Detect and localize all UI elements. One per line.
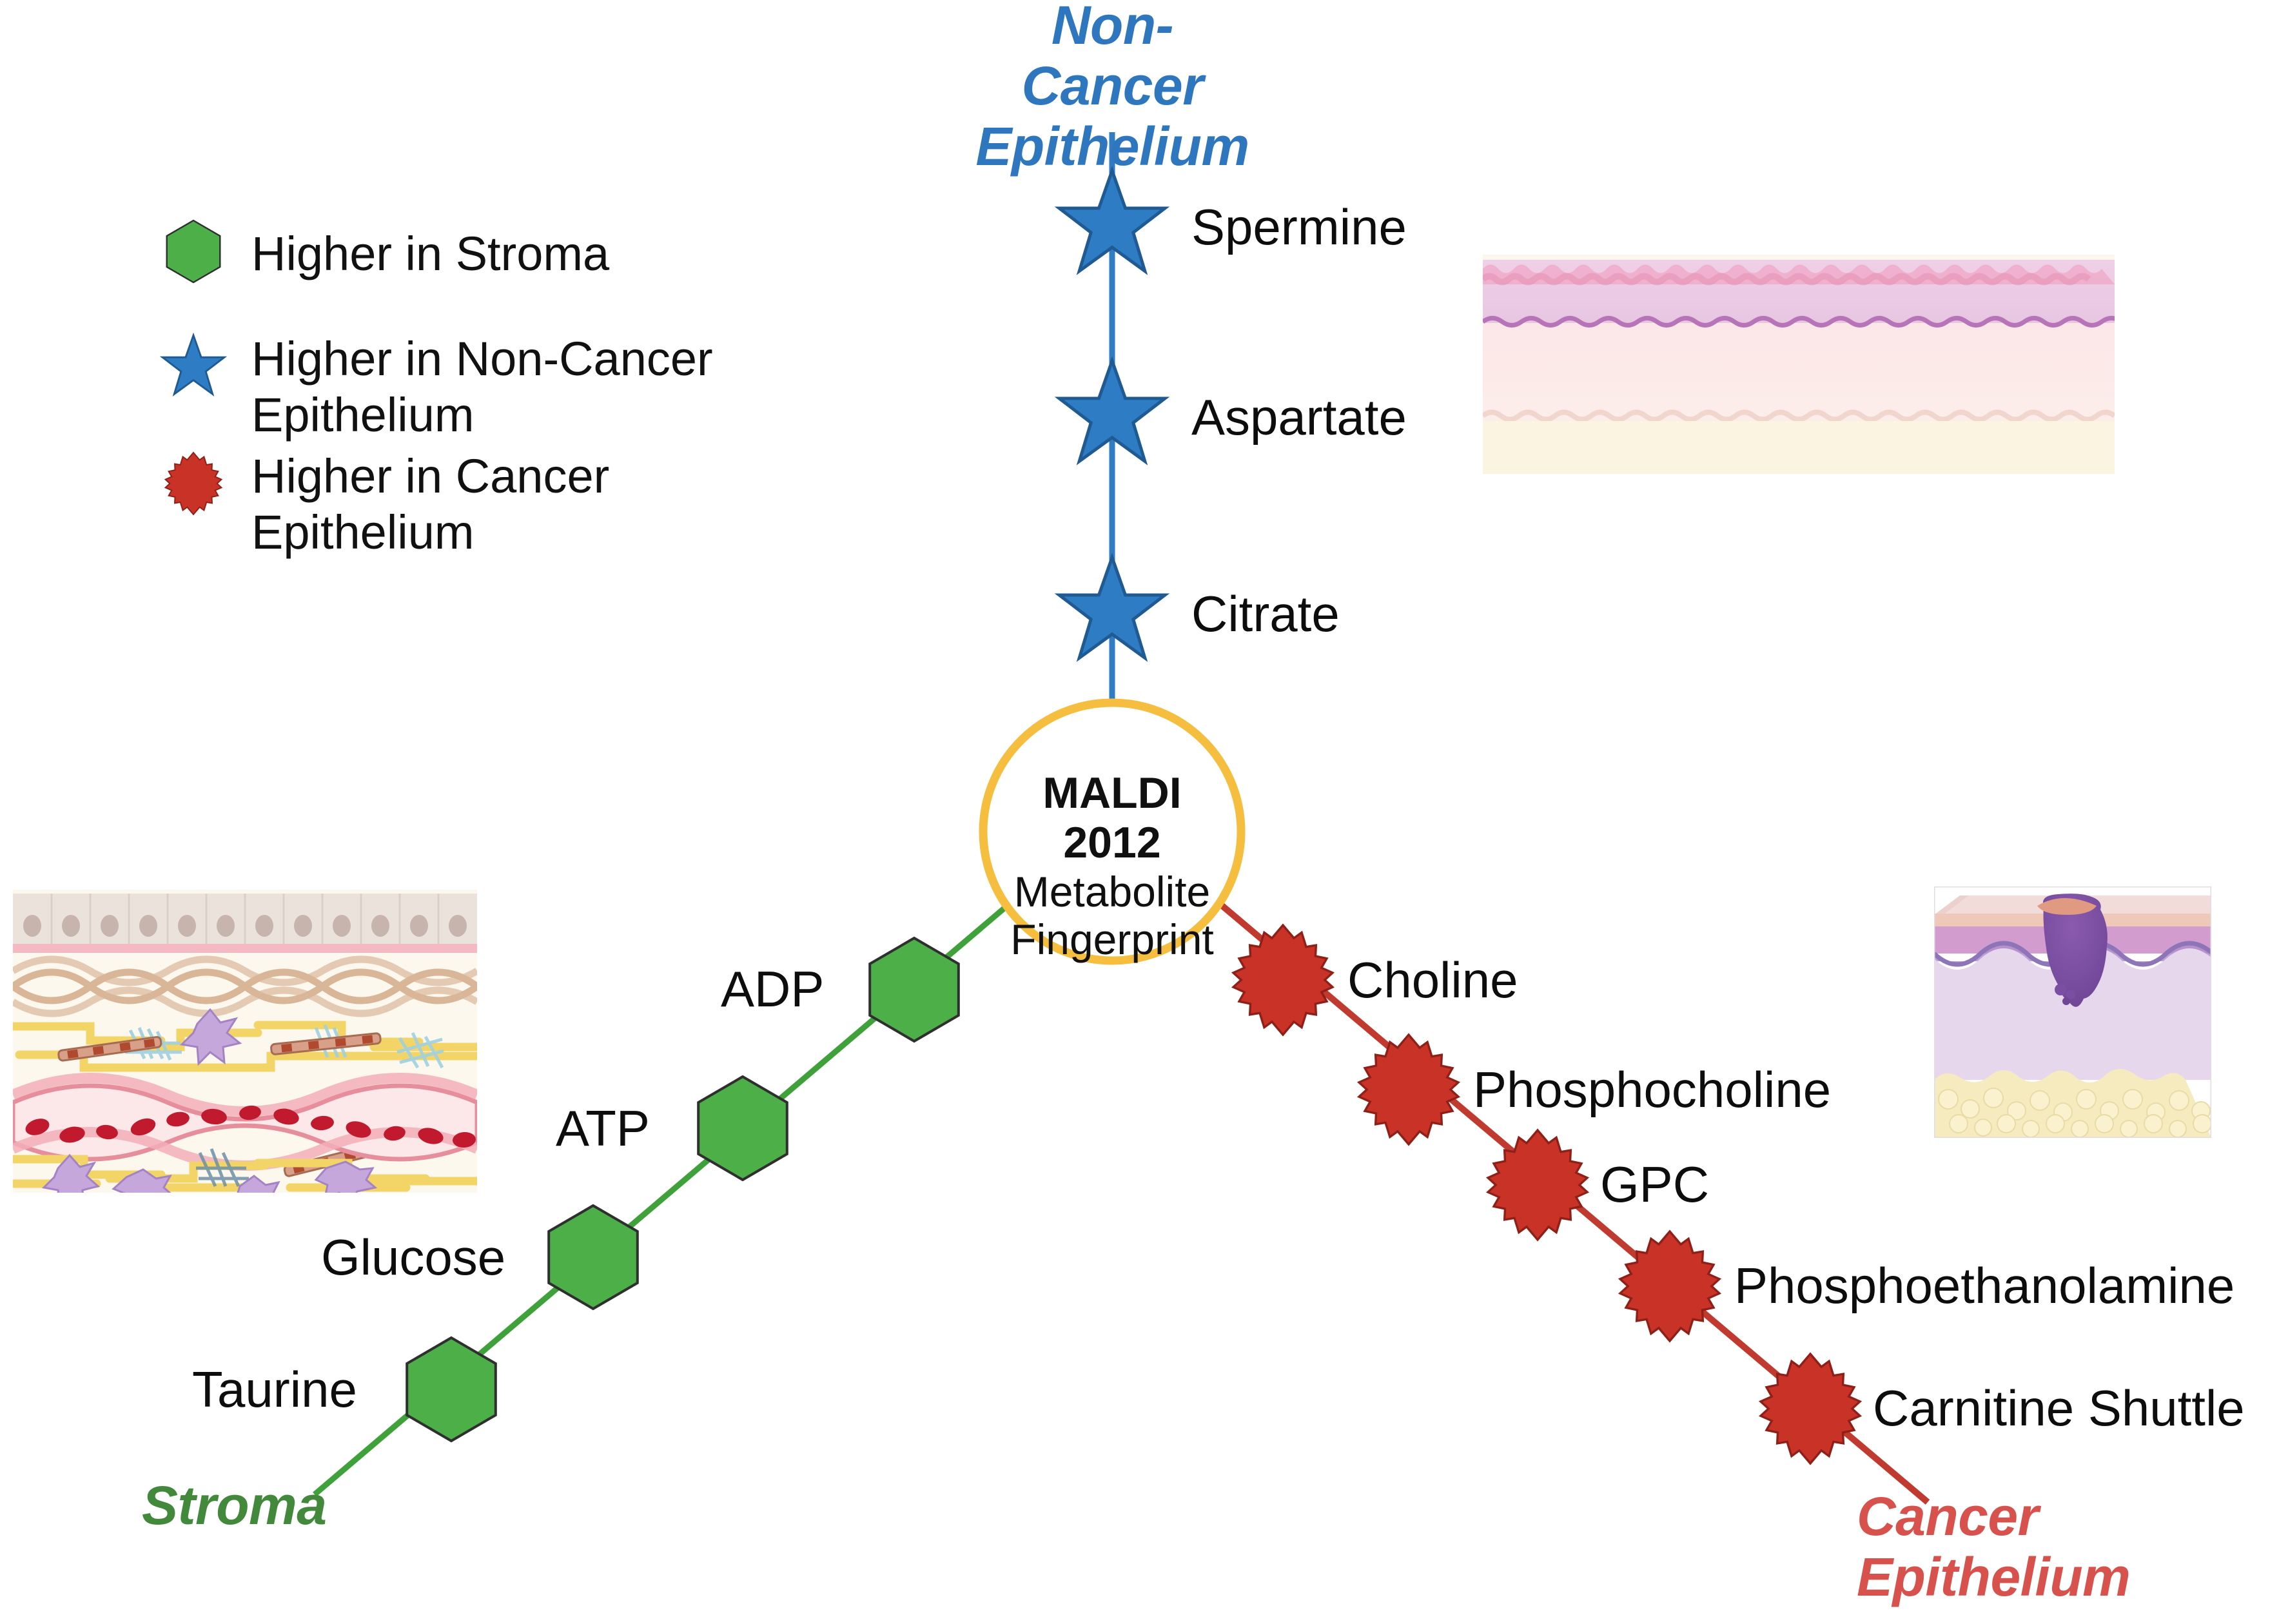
hub-label-line1: MALDI 2012: [990, 768, 1235, 868]
legend-hexagon-icon: [167, 220, 220, 282]
branch-title-line1: Non-Cancer: [969, 0, 1256, 116]
node-burst-phosphocholine[interactable]: [1359, 1035, 1458, 1144]
branch-title-line1: Stroma: [142, 1475, 326, 1536]
node-label-adp: ADP: [721, 962, 824, 1016]
branch-title-line2: Epithelium: [1857, 1547, 2130, 1607]
node-label-carnitine-shuttle: Carnitine Shuttle: [1873, 1381, 2245, 1435]
legend-label-higher-in-non-cancer-epithelium: Higher in Non-Cancer Epithelium: [251, 331, 713, 444]
node-label-gpc: GPC: [1600, 1157, 1709, 1211]
node-hex-atp[interactable]: [698, 1077, 787, 1180]
node-label-citrate: Citrate: [1191, 587, 1340, 641]
legend-label-higher-in-cancer-epithelium: Higher in Cancer Epithelium: [251, 448, 609, 561]
diagram-canvas: Non-Cancer Epithelium Stroma Cancer Epit…: [0, 0, 2279, 1624]
hub-label: MALDI 2012 Metabolite Fingerprint: [990, 768, 1235, 964]
branch-title-stroma: Stroma: [142, 1475, 326, 1536]
node-label-phosphoethanolamine: Phosphoethanolamine: [1734, 1258, 2235, 1313]
legend-star-icon: [162, 335, 224, 394]
node-burst-phosphoethanolamine[interactable]: [1620, 1231, 1719, 1341]
legend-label-line2: Epithelium: [251, 504, 609, 560]
branch-title-line1: Cancer: [1857, 1486, 2130, 1547]
legend-starburst-icon: [166, 453, 222, 514]
legend-label-line2: Epithelium: [251, 387, 713, 443]
hub-label-line3: Fingerprint: [990, 915, 1235, 964]
legend-label-line1: Higher in Cancer: [251, 448, 609, 504]
branch-title-non-cancer-epithelium: Non-Cancer Epithelium: [969, 0, 1256, 177]
node-burst-choline[interactable]: [1233, 925, 1333, 1035]
node-label-taurine: Taurine: [192, 1362, 357, 1416]
legend-label-higher-in-stroma: Higher in Stroma: [251, 226, 609, 282]
branch-title-cancer-epithelium: Cancer Epithelium: [1857, 1486, 2130, 1607]
node-label-choline: Choline: [1347, 953, 1518, 1007]
node-label-glucose: Glucose: [321, 1230, 505, 1284]
stroma-tissue-illustration: [13, 890, 477, 1216]
node-label-aspartate: Aspartate: [1191, 390, 1407, 444]
hub-label-line2: Metabolite: [990, 868, 1235, 916]
cancer-skin-block-illustration: [1934, 886, 2213, 1138]
node-hex-glucose[interactable]: [549, 1206, 638, 1309]
branch-title-line2: Epithelium: [969, 116, 1256, 177]
node-label-phosphocholine: Phosphocholine: [1473, 1062, 1831, 1117]
node-label-spermine: Spermine: [1191, 200, 1407, 254]
legend-label-line1: Higher in Non-Cancer: [251, 331, 713, 387]
node-label-atp: ATP: [556, 1101, 650, 1155]
node-hex-adp[interactable]: [870, 938, 959, 1041]
normal-epithelium-tissue-illustration: [1483, 255, 2121, 474]
